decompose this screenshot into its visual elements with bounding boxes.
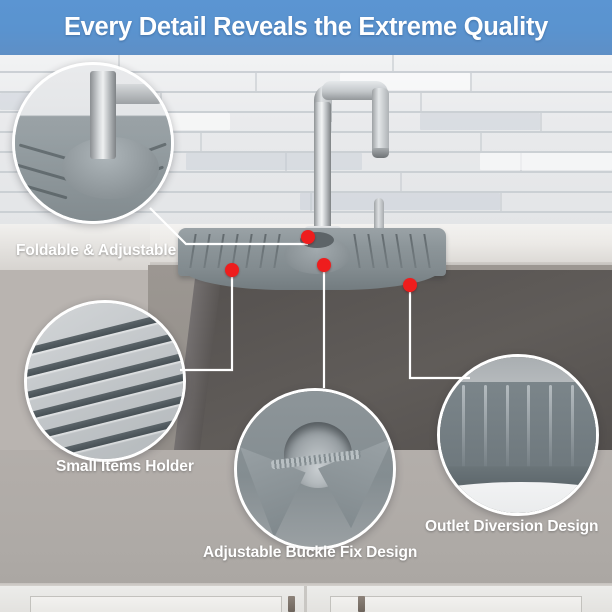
marker-dot-foldable-adjustable[interactable] — [301, 230, 315, 244]
callout-bubble-small-items-holder — [24, 300, 186, 462]
callout-bubble-buckle-fix-design — [234, 388, 396, 550]
callout-label-small-items-holder: Small Items Holder — [56, 458, 194, 476]
callout-label-foldable-adjustable: Foldable & Adjustable — [16, 242, 176, 260]
callout-label-buckle-fix-design: Adjustable Buckle Fix Design — [203, 544, 417, 562]
product-infographic: Foldable & Adjustable Small Items Holder… — [0, 0, 612, 612]
marker-dot-outlet-diversion-design[interactable] — [403, 278, 417, 292]
banner-title: Every Detail Reveals the Extreme Quality — [64, 13, 548, 42]
header-banner: Every Detail Reveals the Extreme Quality — [0, 0, 612, 55]
kitchen-faucet — [300, 80, 410, 250]
marker-dot-buckle-fix-design[interactable] — [317, 258, 331, 272]
marker-dot-small-items-holder[interactable] — [225, 263, 239, 277]
callout-bubble-outlet-diversion-design — [437, 354, 599, 516]
callout-bubble-foldable-adjustable — [12, 62, 174, 224]
callout-label-outlet-diversion-design: Outlet Diversion Design — [425, 518, 598, 536]
